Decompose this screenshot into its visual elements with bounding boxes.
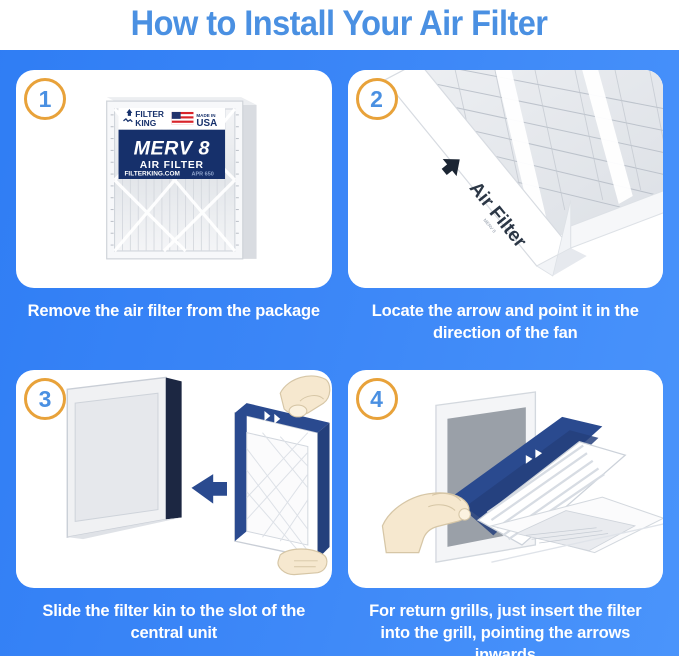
step-1-card: FILTER KING MADE IN USA xyxy=(16,70,332,288)
steps-grid: FILTER KING MADE IN USA xyxy=(0,50,679,656)
step-1-caption: Remove the air filter from the package xyxy=(16,300,332,322)
step-4-caption-line-1: For return grills, just insert the filte… xyxy=(354,600,658,622)
step-2-number-badge: 2 xyxy=(356,78,398,120)
step-3-caption: Slide the filter kin to the slot of the … xyxy=(16,600,332,644)
svg-text:APR 650: APR 650 xyxy=(191,172,213,178)
header-band: How to Install Your Air Filter xyxy=(0,0,679,50)
step-3-caption-line-1: Slide the filter kin to the slot of the xyxy=(22,600,326,622)
step-2-caption-line-2: direction of the fan xyxy=(354,322,658,344)
step-4-caption-line-2: into the grill, pointing the arrows xyxy=(354,622,658,644)
step-4-caption-line-3: inwards xyxy=(354,644,658,656)
step-2-caption: Locate the arrow and point it in the dir… xyxy=(348,300,664,344)
hand-illustration-lower xyxy=(278,549,327,575)
step-2: Air Filter MERV 8 2 Locate the arrow and… xyxy=(348,70,664,370)
step-4: 4 For return grills, just insert the fil… xyxy=(348,370,664,656)
svg-text:AIR FILTER: AIR FILTER xyxy=(140,160,204,171)
step-4-card: 4 xyxy=(348,370,664,588)
step-3-number-badge: 3 xyxy=(24,378,66,420)
infographic-root: How to Install Your Air Filter xyxy=(0,0,679,656)
svg-text:USA: USA xyxy=(196,118,217,129)
svg-text:KING: KING xyxy=(135,118,156,128)
step-1: FILTER KING MADE IN USA xyxy=(16,70,332,370)
step-2-caption-line-1: Locate the arrow and point it in the xyxy=(354,300,658,322)
step-4-caption: For return grills, just insert the filte… xyxy=(348,600,664,656)
svg-text:MERV 8: MERV 8 xyxy=(134,137,210,159)
step-1-number-badge: 1 xyxy=(24,78,66,120)
step-3: 3 Slide the filter kin to the slot of th… xyxy=(16,370,332,656)
svg-text:FILTERKING.COM: FILTERKING.COM xyxy=(124,171,180,178)
page-title: How to Install Your Air Filter xyxy=(131,5,548,43)
step-4-number-badge: 4 xyxy=(356,378,398,420)
step-3-card: 3 xyxy=(16,370,332,588)
step-2-card: Air Filter MERV 8 2 xyxy=(348,70,664,288)
step-3-caption-line-2: central unit xyxy=(22,622,326,644)
usa-flag-icon xyxy=(172,112,194,125)
